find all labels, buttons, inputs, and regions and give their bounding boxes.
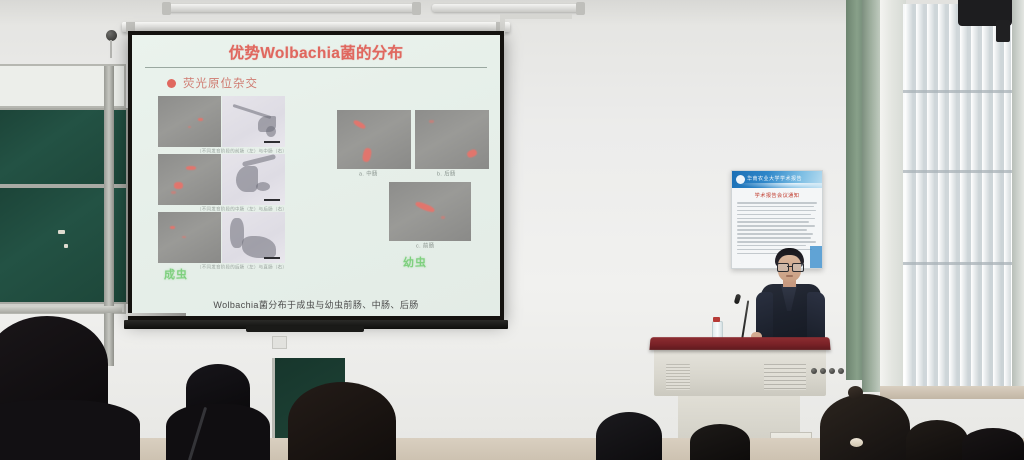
audience-head-3 [288, 382, 396, 460]
window-glass [903, 4, 1015, 390]
wall-socket [272, 336, 287, 349]
window-jamb [1012, 0, 1024, 392]
mounting-bracket-arm [996, 20, 1010, 42]
screen-tension-rod [126, 313, 186, 316]
stage-label-adult: 成虫 [164, 266, 188, 282]
screen-wall-arm [500, 14, 572, 19]
speaker-person [755, 248, 827, 348]
control-knob-4[interactable] [838, 368, 844, 374]
control-knob-1[interactable] [811, 368, 817, 374]
micrograph-caption-2: （不同发育阶段的中肠（左）与后肠（右） [197, 205, 287, 212]
slide-bullet-row: 荧光原位杂交 [167, 75, 491, 91]
audience-head-6 [820, 394, 910, 460]
audience-head-5 [690, 424, 750, 460]
micrograph-caption-1: （不同发育阶段的前肠（左）与中肠（右） [197, 147, 287, 154]
audience-head-8 [962, 428, 1024, 460]
window-sill [880, 386, 1024, 399]
poster-header-title: 华南农业大学学术报告 [747, 175, 802, 183]
micrograph-fluorescence-1 [158, 96, 221, 147]
lecture-hall-photo: 优势Wolbachia菌的分布 荧光原位杂交 [0, 0, 1024, 460]
lectern-desktop [649, 337, 830, 350]
micrograph-fluorescence-5 [415, 110, 489, 169]
slide-bullet-text: 荧光原位杂交 [183, 75, 258, 91]
poster-title: 学术报告会议通知 [731, 192, 823, 200]
projection-screen: 优势Wolbachia菌的分布 荧光原位杂交 [128, 31, 504, 320]
control-knob-3[interactable] [829, 368, 835, 374]
chalkboard-rail [104, 66, 114, 366]
slide-canvas: 优势Wolbachia菌的分布 荧光原位杂交 [132, 35, 500, 316]
poster-header-banner: 华南农业大学学术报告 [732, 171, 822, 188]
hair-scrunchie [850, 438, 863, 447]
chalkboard [0, 64, 126, 314]
lectern-vent-grille [666, 364, 690, 390]
chalk-mark-2 [64, 244, 68, 248]
lectern-body [654, 348, 826, 396]
light-end-cap-2 [412, 2, 421, 15]
screen-cord [110, 40, 112, 58]
micrograph-panel-grid: （不同发育阶段的前肠（左）与中肠（右） （不同发育阶段的中肠（左）与后肠（右） [141, 94, 491, 282]
audience-body-2 [166, 404, 270, 460]
screen-weight-bar [246, 326, 364, 332]
ceiling-light-fixture [168, 4, 418, 12]
slide-title-divider [145, 67, 487, 68]
micrograph-caption-3: （不同发育阶段的后肠（左）与直肠（右） [197, 263, 287, 270]
chalk-ledge [0, 306, 122, 313]
audience-head-7 [906, 420, 968, 460]
control-knob-2[interactable] [820, 368, 826, 374]
micrograph-fluorescence-3 [158, 212, 221, 263]
audience-body-1 [0, 400, 140, 460]
stage-label-larva: 幼虫 [403, 254, 427, 270]
lectern-control-knobs[interactable] [811, 368, 844, 374]
hair-bun [848, 386, 863, 399]
slide-footer-caption: Wolbachia菌分布于成虫与幼虫前肠、中肠、后肠 [132, 298, 500, 311]
micrograph-fluorescence-2 [158, 154, 221, 205]
micrograph-caption-4: a. 中肠 [359, 170, 378, 178]
lectern-control-label [764, 364, 806, 390]
micrograph-fluorescence-6 [389, 182, 471, 241]
micrograph-brightfield-3 [222, 212, 285, 263]
speaker-mouth [786, 275, 793, 277]
chalk-mark [58, 230, 65, 234]
micrograph-brightfield-1 [222, 96, 285, 147]
micrograph-fluorescence-4 [337, 110, 411, 169]
ceiling-light-fixture-2 [432, 4, 582, 12]
light-end-cap [162, 2, 171, 15]
projected-slide: 优势Wolbachia菌的分布 荧光原位杂交 [132, 35, 500, 316]
micrograph-brightfield-2 [222, 154, 285, 205]
micrograph-caption-6: c. 前肠 [416, 242, 435, 250]
water-bottle-cap [713, 317, 720, 322]
slide-title: 优势Wolbachia菌的分布 [141, 45, 491, 62]
glasses-icon [777, 263, 802, 270]
bullet-dot-icon [167, 79, 176, 88]
audience-head-4 [596, 412, 662, 460]
light-end-cap-3 [576, 2, 585, 15]
micrograph-caption-5: b. 后肠 [437, 170, 456, 178]
